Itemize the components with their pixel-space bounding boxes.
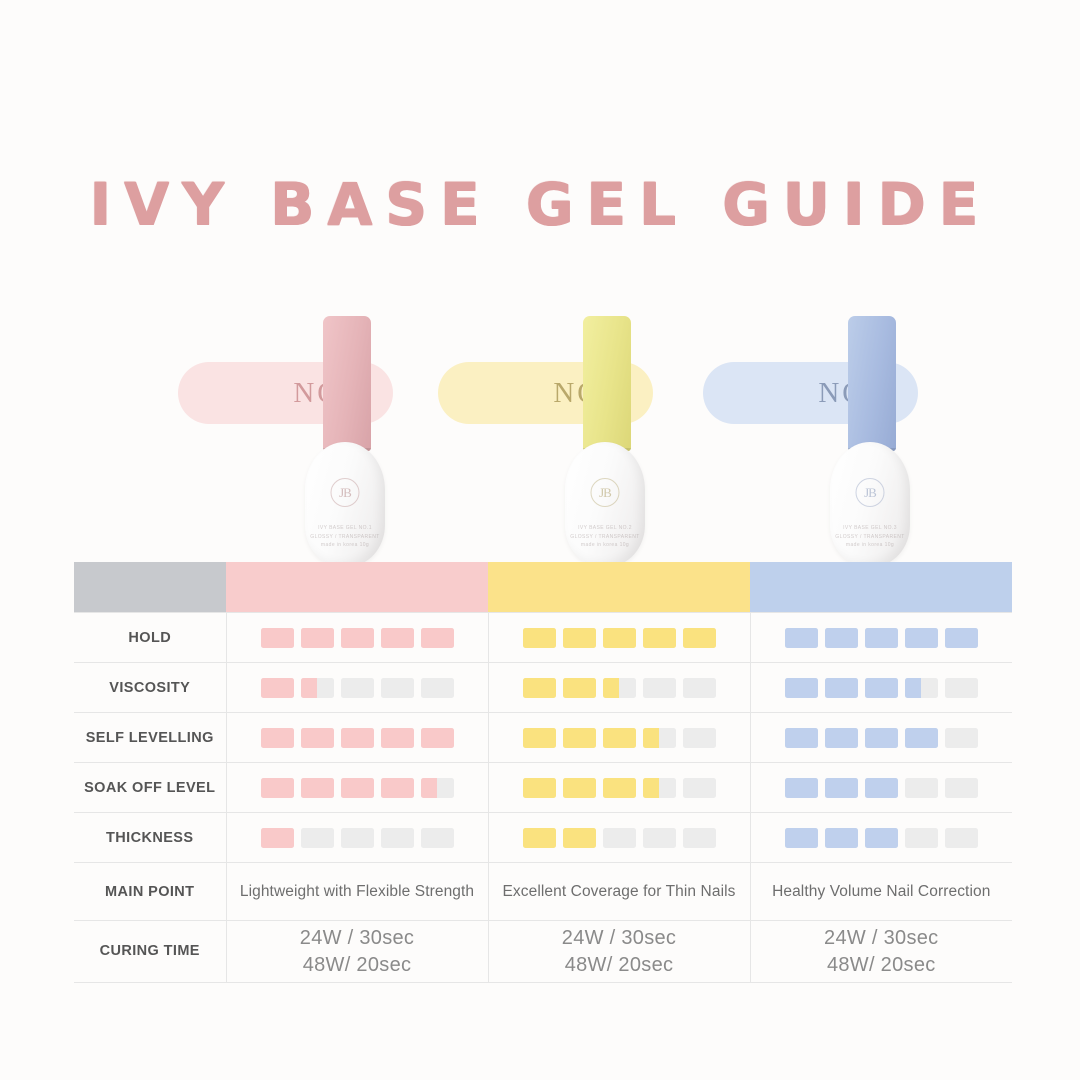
product-no3: NO.3 JB IVY BASE GEL NO.3 GLOSSY / TRANS… bbox=[665, 300, 995, 590]
rating-segment bbox=[341, 678, 374, 698]
rating-meter bbox=[489, 828, 750, 848]
bottle-body: JB IVY BASE GEL NO.2 GLOSSY / TRANSPAREN… bbox=[565, 442, 645, 567]
rating-segment bbox=[785, 628, 818, 648]
rating-segment bbox=[603, 678, 636, 698]
rating-cell bbox=[750, 763, 1012, 813]
rating-segment bbox=[301, 828, 334, 848]
rating-segment bbox=[683, 778, 716, 798]
rating-segment bbox=[785, 728, 818, 748]
bottle-cap-icon bbox=[848, 316, 896, 451]
rating-meter bbox=[227, 678, 488, 698]
rating-segment bbox=[905, 828, 938, 848]
rating-cell bbox=[488, 713, 750, 763]
table-row: MAIN POINTLightweight with Flexible Stre… bbox=[74, 863, 1012, 921]
brand-logo-icon: JB bbox=[331, 478, 360, 507]
rating-segment bbox=[825, 678, 858, 698]
rating-cell bbox=[488, 813, 750, 863]
bottle-no2: JB IVY BASE GEL NO.2 GLOSSY / TRANSPAREN… bbox=[565, 316, 645, 581]
rating-segment bbox=[865, 628, 898, 648]
rating-meter bbox=[751, 628, 1013, 648]
rating-segment bbox=[683, 728, 716, 748]
rating-cell bbox=[750, 613, 1012, 663]
table-row: CURING TIME24W / 30sec48W/ 20sec24W / 30… bbox=[74, 921, 1012, 983]
rating-segment bbox=[341, 778, 374, 798]
rating-segment bbox=[341, 828, 374, 848]
row-label-hold: HOLD bbox=[74, 613, 226, 663]
text-cell: 24W / 30sec48W/ 20sec bbox=[750, 921, 1012, 983]
text-cell: 24W / 30sec48W/ 20sec bbox=[226, 921, 488, 983]
row-label-main-point: MAIN POINT bbox=[74, 863, 226, 921]
rating-segment bbox=[603, 728, 636, 748]
rating-segment bbox=[421, 728, 454, 748]
rating-cell bbox=[226, 763, 488, 813]
rating-segment bbox=[945, 678, 978, 698]
rating-segment bbox=[905, 678, 938, 698]
rating-segment bbox=[381, 728, 414, 748]
rating-cell bbox=[226, 613, 488, 663]
rating-segment bbox=[261, 778, 294, 798]
rating-segment bbox=[301, 778, 334, 798]
rating-segment bbox=[905, 628, 938, 648]
header-cell-no3 bbox=[750, 562, 1012, 613]
rating-segment bbox=[301, 678, 334, 698]
rating-segment bbox=[421, 678, 454, 698]
rating-segment bbox=[683, 828, 716, 848]
rating-segment bbox=[563, 678, 596, 698]
rating-segment bbox=[341, 728, 374, 748]
rating-cell bbox=[750, 663, 1012, 713]
table-row: SELF LEVELLING bbox=[74, 713, 1012, 763]
text-cell: Excellent Coverage for Thin Nails bbox=[488, 863, 750, 921]
rating-segment bbox=[523, 678, 556, 698]
bottle-cap-icon bbox=[583, 316, 631, 451]
rating-segment bbox=[421, 778, 454, 798]
rating-segment bbox=[381, 778, 414, 798]
rating-segment bbox=[261, 628, 294, 648]
rating-segment bbox=[945, 828, 978, 848]
rating-segment bbox=[643, 728, 676, 748]
rating-segment bbox=[341, 628, 374, 648]
cell-line: Lightweight with Flexible Strength bbox=[227, 883, 488, 901]
rating-cell bbox=[750, 813, 1012, 863]
rating-meter bbox=[751, 678, 1013, 698]
rating-segment bbox=[381, 828, 414, 848]
rating-segment bbox=[865, 728, 898, 748]
rating-segment bbox=[643, 678, 676, 698]
rating-meter bbox=[489, 628, 750, 648]
cell-line: 24W / 30sec bbox=[751, 925, 1013, 952]
rating-meter bbox=[751, 728, 1013, 748]
text-cell: 24W / 30sec48W/ 20sec bbox=[488, 921, 750, 983]
comparison-table: HOLDVISCOSITYSELF LEVELLINGSOAK OFF LEVE… bbox=[74, 562, 1012, 983]
rating-segment bbox=[421, 828, 454, 848]
rating-segment bbox=[301, 628, 334, 648]
rating-cell bbox=[488, 613, 750, 663]
rating-segment bbox=[683, 628, 716, 648]
rating-segment bbox=[825, 628, 858, 648]
bottle-body: JB IVY BASE GEL NO.1 GLOSSY / TRANSPAREN… bbox=[305, 442, 385, 567]
table-header-row bbox=[74, 562, 1012, 613]
rating-segment bbox=[905, 778, 938, 798]
cell-line: Healthy Volume Nail Correction bbox=[751, 883, 1013, 901]
rating-segment bbox=[785, 778, 818, 798]
rating-segment bbox=[523, 778, 556, 798]
rating-segment bbox=[523, 628, 556, 648]
row-label-curing-time: CURING TIME bbox=[74, 921, 226, 983]
rating-meter bbox=[489, 678, 750, 698]
rating-segment bbox=[603, 628, 636, 648]
rating-cell bbox=[750, 713, 1012, 763]
rating-segment bbox=[643, 628, 676, 648]
bottle-label-text: IVY BASE GEL NO.1 GLOSSY / TRANSPARENT m… bbox=[305, 524, 385, 550]
rating-meter bbox=[227, 828, 488, 848]
bottle-no1: JB IVY BASE GEL NO.1 GLOSSY / TRANSPAREN… bbox=[305, 316, 385, 581]
bottle-cap-icon bbox=[323, 316, 371, 451]
rating-segment bbox=[563, 828, 596, 848]
page-title: IVY BASE GEL GUIDE bbox=[0, 170, 1080, 238]
rating-meter bbox=[751, 778, 1013, 798]
rating-cell bbox=[226, 663, 488, 713]
rating-segment bbox=[945, 778, 978, 798]
bottle-label-text: IVY BASE GEL NO.2 GLOSSY / TRANSPARENT m… bbox=[565, 524, 645, 550]
rating-segment bbox=[523, 728, 556, 748]
rating-segment bbox=[945, 628, 978, 648]
rating-meter bbox=[227, 628, 488, 648]
rating-segment bbox=[643, 828, 676, 848]
cell-line: 48W/ 20sec bbox=[227, 952, 488, 979]
rating-segment bbox=[825, 828, 858, 848]
rating-segment bbox=[563, 778, 596, 798]
row-label-thickness: THICKNESS bbox=[74, 813, 226, 863]
cell-line: 48W/ 20sec bbox=[751, 952, 1013, 979]
row-label-viscosity: VISCOSITY bbox=[74, 663, 226, 713]
rating-meter bbox=[227, 728, 488, 748]
brand-logo-icon: JB bbox=[856, 478, 885, 507]
table-row: THICKNESS bbox=[74, 813, 1012, 863]
rating-segment bbox=[523, 828, 556, 848]
rating-meter bbox=[489, 728, 750, 748]
rating-segment bbox=[563, 728, 596, 748]
rating-segment bbox=[825, 778, 858, 798]
bottle-no3: JB IVY BASE GEL NO.3 GLOSSY / TRANSPAREN… bbox=[830, 316, 910, 581]
rating-segment bbox=[785, 678, 818, 698]
rating-segment bbox=[603, 828, 636, 848]
rating-segment bbox=[603, 778, 636, 798]
header-cell-blank bbox=[74, 562, 226, 613]
rating-cell bbox=[226, 813, 488, 863]
guide-page: IVY BASE GEL GUIDE NO.1 JB IVY BASE GEL … bbox=[0, 0, 1080, 1080]
rating-meter bbox=[751, 828, 1013, 848]
rating-segment bbox=[563, 628, 596, 648]
rating-cell bbox=[488, 763, 750, 813]
rating-segment bbox=[421, 628, 454, 648]
rating-segment bbox=[785, 828, 818, 848]
rating-segment bbox=[825, 728, 858, 748]
cell-line: Excellent Coverage for Thin Nails bbox=[489, 883, 750, 901]
rating-segment bbox=[683, 678, 716, 698]
rating-segment bbox=[865, 678, 898, 698]
rating-cell bbox=[488, 663, 750, 713]
rating-segment bbox=[905, 728, 938, 748]
rating-cell bbox=[226, 713, 488, 763]
rating-segment bbox=[261, 728, 294, 748]
cell-line: 24W / 30sec bbox=[227, 925, 488, 952]
row-label-self-levelling: SELF LEVELLING bbox=[74, 713, 226, 763]
rating-segment bbox=[643, 778, 676, 798]
rating-segment bbox=[865, 828, 898, 848]
rating-segment bbox=[381, 628, 414, 648]
text-cell: Lightweight with Flexible Strength bbox=[226, 863, 488, 921]
header-cell-no1 bbox=[226, 562, 488, 613]
brand-logo-icon: JB bbox=[591, 478, 620, 507]
rating-segment bbox=[301, 728, 334, 748]
rating-segment bbox=[261, 828, 294, 848]
bottle-label-text: IVY BASE GEL NO.3 GLOSSY / TRANSPARENT m… bbox=[830, 524, 910, 550]
rating-segment bbox=[945, 728, 978, 748]
bottle-body: JB IVY BASE GEL NO.3 GLOSSY / TRANSPAREN… bbox=[830, 442, 910, 567]
table-row: SOAK OFF LEVEL bbox=[74, 763, 1012, 813]
cell-line: 24W / 30sec bbox=[489, 925, 750, 952]
rating-meter bbox=[227, 778, 488, 798]
rating-segment bbox=[865, 778, 898, 798]
text-cell: Healthy Volume Nail Correction bbox=[750, 863, 1012, 921]
row-label-soak-off-level: SOAK OFF LEVEL bbox=[74, 763, 226, 813]
rating-segment bbox=[261, 678, 294, 698]
header-cell-no2 bbox=[488, 562, 750, 613]
table-row: HOLD bbox=[74, 613, 1012, 663]
product-showcase: NO.1 JB IVY BASE GEL NO.1 GLOSSY / TRANS… bbox=[0, 300, 1080, 590]
rating-meter bbox=[489, 778, 750, 798]
cell-line: 48W/ 20sec bbox=[489, 952, 750, 979]
rating-segment bbox=[381, 678, 414, 698]
table-row: VISCOSITY bbox=[74, 663, 1012, 713]
